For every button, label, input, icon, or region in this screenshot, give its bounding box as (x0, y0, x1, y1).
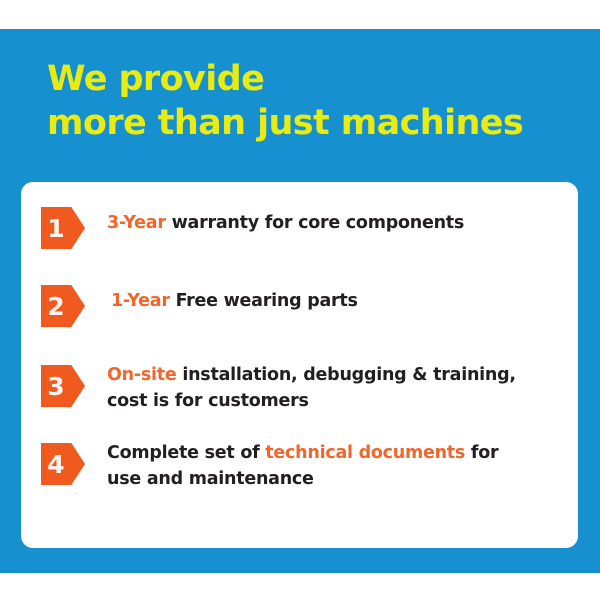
list-item-rest: warranty for core components (166, 213, 464, 233)
page-title-line-2: more than just machines (47, 101, 567, 145)
list-item-text: 3-Year warranty for core components (85, 204, 561, 236)
list-item-highlight: On-site (107, 365, 177, 385)
list-item: 3 On-site installation, debugging & trai… (41, 362, 561, 414)
list-item-rest: for (465, 443, 498, 463)
list-item-rest: installation, debugging & training, (177, 365, 516, 385)
number-badge-arrow-icon: 4 (41, 443, 85, 485)
page-title-line-1: We provide (47, 57, 567, 101)
list-item-text: Complete set of technical documents for … (85, 440, 561, 492)
number-badge-arrow-icon: 3 (41, 365, 85, 407)
list-item-line-2: use and maintenance (107, 466, 561, 492)
list-item-text: 1-Year Free wearing parts (85, 282, 561, 314)
list-item: 4 Complete set of technical documents fo… (41, 440, 561, 492)
list-item: 2 1-Year Free wearing parts (41, 282, 561, 327)
list-item-prefix: Complete set of (107, 443, 265, 463)
badge-number: 1 (41, 207, 71, 249)
page-title: We provide more than just machines (47, 57, 567, 145)
number-badge-arrow-icon: 2 (41, 285, 85, 327)
list-item-line-2: cost is for customers (107, 388, 561, 414)
list-item-text: On-site installation, debugging & traini… (85, 362, 561, 414)
list-item-highlight: 3-Year (107, 213, 166, 233)
number-badge-arrow-icon: 1 (41, 207, 85, 249)
list-item-highlight: 1-Year (111, 291, 170, 311)
features-list: 1 3-Year warranty for core components 2 … (21, 182, 578, 548)
promo-banner-screen: We provide more than just machines 1 3-Y… (0, 0, 600, 600)
list-item-rest: Free wearing parts (170, 291, 358, 311)
list-item-highlight: technical documents (265, 443, 465, 463)
badge-number: 3 (41, 365, 71, 407)
badge-number: 2 (41, 285, 71, 327)
list-item: 1 3-Year warranty for core components (41, 204, 561, 249)
features-card: 1 3-Year warranty for core components 2 … (21, 182, 578, 548)
badge-number: 4 (41, 443, 71, 485)
